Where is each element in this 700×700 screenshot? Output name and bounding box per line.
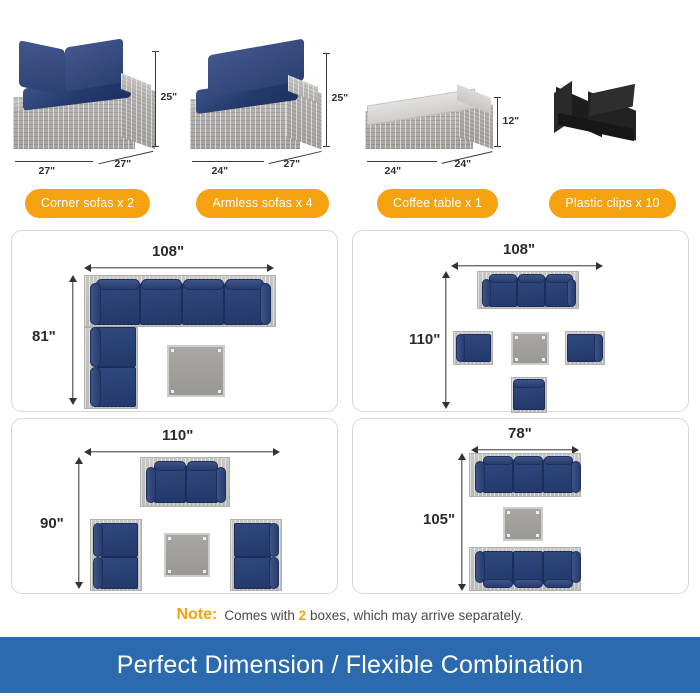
corner-sofa-illustration: 25" 27" 27" (3, 35, 173, 183)
coffee-table-badge[interactable]: Coffee table x 1 (377, 189, 498, 218)
coffee-table-depth-label: 24" (455, 158, 472, 170)
config3-depth-arrow (74, 457, 84, 589)
config4-depth-arrow (457, 453, 467, 591)
coffee-table-illustration: 12" 24" 24" (353, 35, 523, 183)
corner-sofa-depth-label: 27" (115, 158, 132, 170)
sofa-arm-bolster (475, 551, 485, 583)
loveseat-arm-bolster (216, 467, 226, 503)
sectional-side-bolster (90, 367, 101, 407)
chair-back-bolster (594, 334, 603, 362)
armless-sofa-width-label: 24" (212, 165, 229, 177)
config2-depth-label: 110" (409, 331, 440, 348)
config2-depth-arrow (441, 271, 451, 409)
sofa-back-bolster (483, 456, 513, 465)
config1-depth-label: 81" (32, 328, 56, 345)
sofa-arm-bolster (482, 279, 491, 307)
chair-back-bolster (456, 334, 465, 362)
sofa-arm-bolster (567, 279, 576, 307)
chair-seat (234, 523, 272, 557)
plastic-clips-badge[interactable]: Plastic clips x 10 (549, 189, 675, 218)
sofa-back-bolster (489, 274, 517, 283)
product-coffee-table: 12" 24" 24" Coffee table x 1 (350, 18, 525, 218)
sofa-back-bolster (514, 456, 543, 465)
chair-back-bolster (513, 379, 545, 388)
sectional-seat (96, 367, 136, 407)
armless-sofa-height-label: 25" (332, 92, 349, 104)
product-corner-sofa: 25" 27" 27" Corner sofas x 2 (0, 18, 175, 218)
corner-sofa-width-label: 27" (39, 165, 56, 177)
sofa-back-bolster (483, 579, 513, 588)
coffee-table-top-view (511, 332, 549, 365)
chair-back-bolster (93, 557, 103, 589)
note-box-count: 2 (299, 608, 307, 623)
chair-back-bolster (269, 557, 279, 589)
coffee-table-width-label: 24" (385, 165, 402, 177)
configuration-panels: 108" 81" (0, 226, 700, 598)
config-panel-sofa-with-chairs: 108" 110" (352, 230, 689, 412)
chair-seat (461, 334, 491, 362)
sectional-back-bolster (96, 279, 140, 290)
coffee-table-top-view (167, 345, 225, 397)
coffee-table-top-view (503, 507, 543, 541)
sectional-seat (96, 327, 136, 367)
note-keyword: Note: (176, 606, 217, 624)
config-panel-loveseat-and-two-chairs: 110" 90" (11, 418, 338, 594)
config3-width-arrow (84, 447, 280, 457)
sectional-back-bolster (183, 279, 224, 290)
coffee-table-height-label: 12" (503, 115, 520, 127)
sectional-back-bolster (141, 279, 182, 290)
loveseat-back-bolster (154, 461, 186, 471)
sectional-back-bolster (225, 279, 264, 290)
config1-depth-arrow (68, 275, 78, 405)
sofa-arm-bolster (571, 461, 581, 493)
chair-back-bolster (269, 523, 279, 557)
config4-depth-label: 105" (423, 511, 455, 528)
infographic-page: 25" 27" 27" Corner sofas x 2 25" (0, 0, 700, 700)
chair-back-bolster (93, 523, 103, 557)
note-text-before: Comes with (224, 608, 295, 623)
armless-sofa-illustration: 25" 24" 27" (178, 35, 348, 183)
config1-width-arrow (84, 263, 274, 273)
note-row: Note: Comes with 2 boxes, which may arri… (0, 600, 700, 630)
sofa-arm-bolster (571, 551, 581, 583)
note-text-after: boxes, which may arrive separately. (310, 608, 524, 623)
config3-width-label: 110" (162, 427, 193, 444)
loveseat-back-bolster (187, 461, 218, 471)
sectional-side-bolster (90, 283, 101, 325)
config2-width-label: 108" (503, 241, 535, 258)
banner-text: Perfect Dimension / Flexible Combination (117, 651, 584, 680)
chair-seat (100, 557, 138, 589)
sofa-back-bolster (544, 579, 573, 588)
product-legend-row: 25" 27" 27" Corner sofas x 2 25" (0, 0, 700, 218)
chair-seat (234, 557, 272, 589)
sectional-end-bolster (260, 283, 271, 325)
chair-seat (100, 523, 138, 557)
sofa-back-bolster (514, 579, 543, 588)
config1-width-label: 108" (152, 243, 184, 260)
plastic-clips-illustration (528, 35, 698, 183)
config4-width-label: 78" (508, 425, 532, 442)
config3-depth-label: 90" (40, 515, 64, 532)
loveseat-arm-bolster (146, 467, 156, 503)
product-armless-sofa: 25" 24" 27" Armless sofas x 4 (175, 18, 350, 218)
corner-sofa-badge[interactable]: Corner sofas x 2 (25, 189, 150, 218)
config-panel-facing-sofas: 78" 105" (352, 418, 689, 594)
product-plastic-clips: Plastic clips x 10 (525, 18, 700, 218)
config-panel-l-shape-sectional: 108" 81" (11, 230, 338, 412)
bottom-banner: Perfect Dimension / Flexible Combination (0, 637, 700, 693)
armless-sofa-depth-label: 27" (284, 158, 301, 170)
sectional-side-bolster (90, 327, 101, 367)
sofa-arm-bolster (475, 461, 485, 493)
config2-width-arrow (451, 261, 603, 271)
armless-sofa-badge[interactable]: Armless sofas x 4 (196, 189, 328, 218)
chair-seat (567, 334, 597, 362)
sofa-back-bolster (544, 456, 573, 465)
sofa-back-bolster (518, 274, 545, 283)
coffee-table-top-view (164, 533, 210, 577)
